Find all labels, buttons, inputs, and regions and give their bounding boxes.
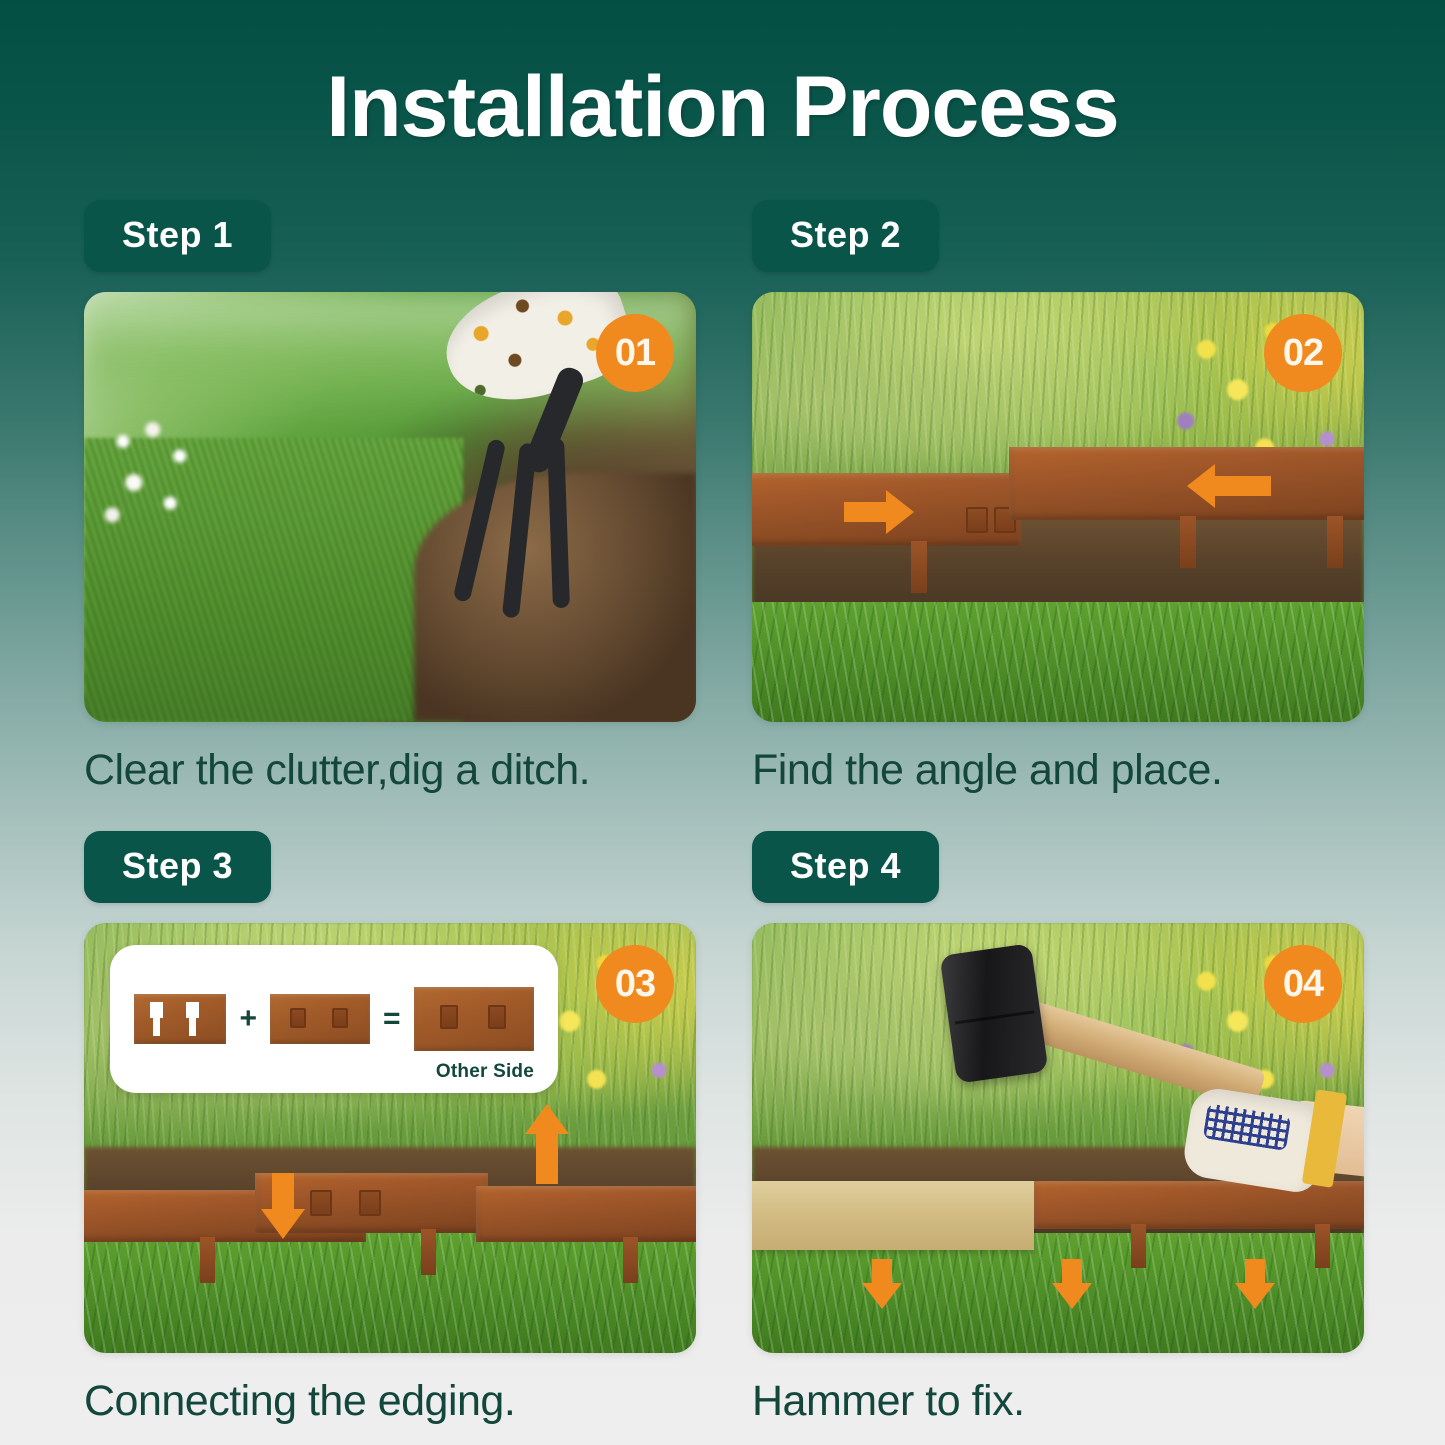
lawn-grass — [752, 602, 1364, 722]
page-title: Installation Process — [0, 62, 1445, 152]
edging-stake — [1180, 516, 1196, 568]
step-badge-1: Step 1 — [84, 200, 271, 272]
edging-stake — [1315, 1224, 1330, 1268]
edging-notch — [310, 1190, 332, 1216]
lawn-grass — [84, 1233, 696, 1353]
step-card-3: Step 3 — [84, 831, 696, 1426]
edging-stake — [421, 1229, 436, 1275]
tab-notch — [488, 1005, 506, 1029]
rust-edging-panel-right — [476, 1186, 696, 1242]
diagram-plate-with-tabs — [270, 994, 370, 1044]
edging-notch — [966, 507, 988, 533]
step-badge-4: Step 4 — [752, 831, 939, 903]
step-number-badge-3: 03 — [596, 945, 674, 1023]
step-caption-3: Connecting the edging. — [84, 1377, 696, 1426]
edging-notch — [359, 1190, 381, 1216]
step-image-1: 01 — [84, 292, 696, 722]
edging-stake — [911, 541, 927, 593]
connection-diagram: + = — [110, 945, 558, 1093]
tab-notch — [332, 1008, 348, 1028]
edging-plate-joined — [414, 987, 534, 1051]
step-number-badge-1: 01 — [596, 314, 674, 392]
rust-edging-panel — [1034, 1181, 1364, 1228]
tab-notch — [290, 1008, 306, 1028]
step-card-4: Step 4 — [752, 831, 1364, 1426]
step-caption-4: Hammer to fix. — [752, 1377, 1364, 1426]
tab-notch — [440, 1005, 458, 1029]
steps-row-2: Step 3 — [84, 831, 1364, 1426]
diagram-plate-with-slots — [134, 994, 226, 1044]
step-image-2: 02 — [752, 292, 1364, 722]
edging-stake — [200, 1237, 215, 1283]
edging-stake — [1131, 1224, 1146, 1268]
wooden-board — [752, 1181, 1034, 1250]
step-caption-1: Clear the clutter,dig a ditch. — [84, 746, 696, 795]
edging-stake — [623, 1237, 638, 1283]
other-side-label: Other Side — [436, 1061, 534, 1083]
steps-grid: Step 1 01 Clear the clutter,dig a ditch. — [84, 200, 1364, 1427]
step-number-badge-2: 02 — [1264, 314, 1342, 392]
equals-symbol: = — [383, 1004, 401, 1034]
slot-cutout — [189, 1016, 196, 1036]
edging-plate-tabbed — [270, 994, 370, 1044]
white-flowers — [96, 412, 231, 558]
plus-symbol: + — [239, 1004, 257, 1034]
step-caption-2: Find the angle and place. — [752, 746, 1364, 795]
step-badge-3: Step 3 — [84, 831, 271, 903]
step-image-4: 04 — [752, 923, 1364, 1353]
slot-cutout — [153, 1016, 160, 1036]
diagram-plate-assembled — [414, 987, 534, 1051]
steps-row-1: Step 1 01 Clear the clutter,dig a ditch. — [84, 200, 1364, 795]
step-card-1: Step 1 01 Clear the clutter,dig a ditch. — [84, 200, 696, 795]
step-number-badge-4: 04 — [1264, 945, 1342, 1023]
edging-plate-slotted — [134, 994, 226, 1044]
edging-stake — [1327, 516, 1343, 568]
step-card-2: Step 2 — [752, 200, 1364, 795]
rubber-mallet-head — [939, 943, 1048, 1084]
step-badge-2: Step 2 — [752, 200, 939, 272]
step-image-3: + = — [84, 923, 696, 1353]
